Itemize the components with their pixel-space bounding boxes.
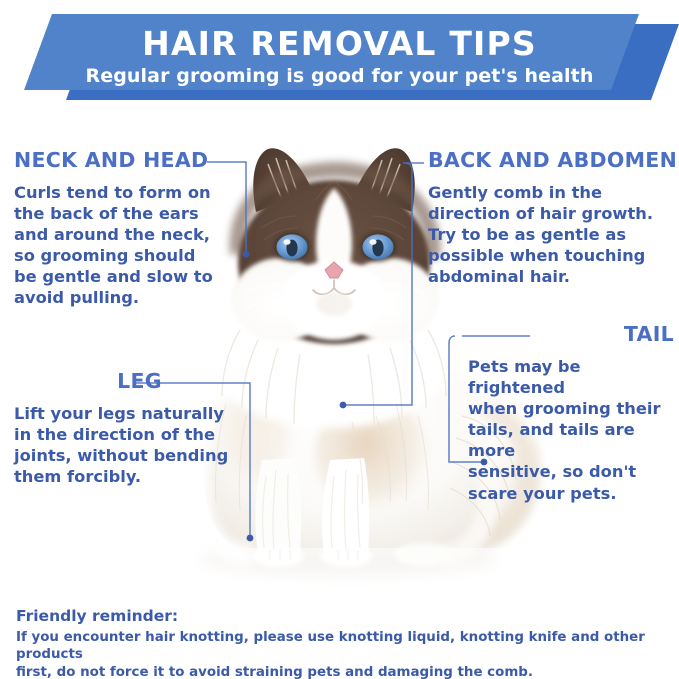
header-banner: HAIR REMOVAL TIPS Regular grooming is go… [0,0,679,112]
footer-note: Friendly reminder: If you encounter hair… [16,607,666,679]
cat-eye-left [274,232,310,262]
callout-back-and-abdomen: BACK AND ABDOMEN Gently comb in the dire… [428,150,678,287]
page-title: HAIR REMOVAL TIPS [142,27,537,60]
cat-eye-highlight-left [283,239,290,245]
callout-leg: LEG Lift your legs naturally in the dire… [14,371,244,487]
callout-body-neck: Curls tend to form on the back of the ea… [14,182,244,309]
footer-body: If you encounter hair knotting, please u… [16,629,666,679]
callout-heading-back: BACK AND ABDOMEN [428,150,678,171]
cat-front-leg-left [255,458,301,554]
page-subtitle: Regular grooming is good for your pet's … [86,67,594,86]
callout-heading-tail: TAIL [468,324,674,345]
callout-neck-and-head: NECK AND HEAD Curls tend to form on the … [14,150,244,309]
callout-body-leg: Lift your legs naturally in the directio… [14,403,244,488]
callout-body-tail: Pets may be frightened when grooming the… [468,356,674,504]
infographic-page: HAIR REMOVAL TIPS Regular grooming is go… [0,0,679,679]
cat-eye-highlight-right [369,239,376,245]
callout-body-back: Gently comb in the direction of hair gro… [428,182,678,288]
footer-title: Friendly reminder: [16,607,666,626]
callout-tail: TAIL Pets may be frightened when groomin… [468,324,674,504]
callout-heading-leg: LEG [77,371,202,392]
banner-text-group: HAIR REMOVAL TIPS Regular grooming is go… [0,0,679,112]
cat-chin [316,292,352,316]
callout-heading-neck: NECK AND HEAD [14,150,244,171]
cat-eye-right [360,232,396,262]
cat-bottom-fade [0,548,679,604]
